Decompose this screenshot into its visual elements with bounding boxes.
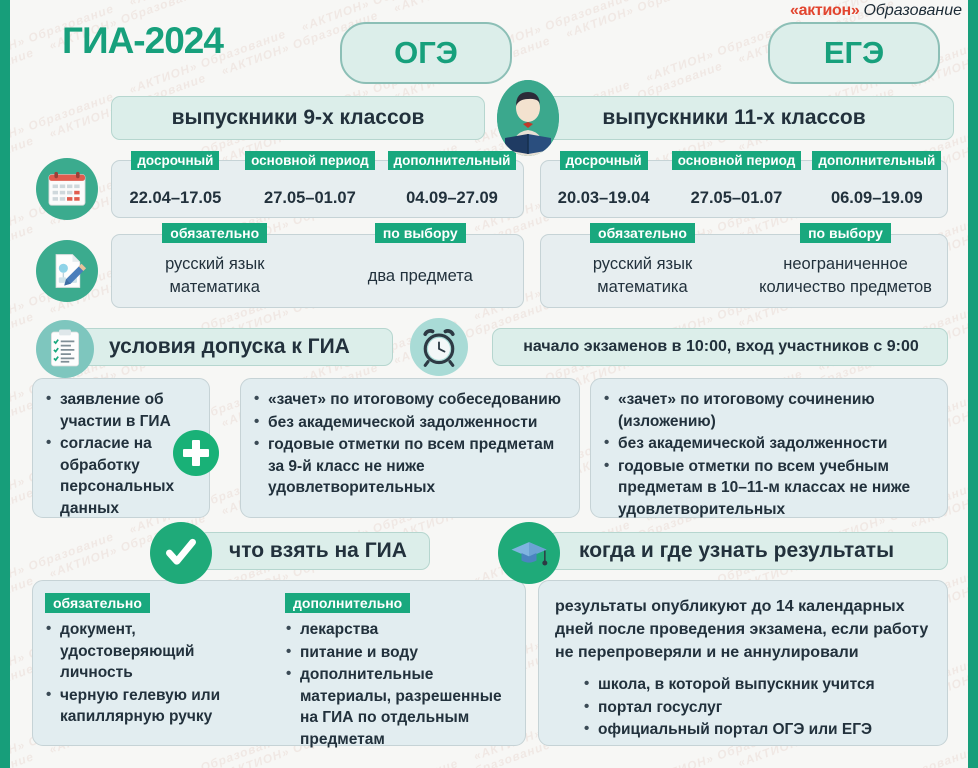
- take-heading-pill: что взять на ГИА: [198, 532, 430, 570]
- period-value: 06.09–19.09: [831, 189, 923, 208]
- period-tag: дополнительный: [388, 151, 517, 170]
- admission-header-row: условия допуска к ГИА начало экзаменов в…: [10, 320, 968, 374]
- list-item: черную гелевую или капиллярную ручку: [45, 685, 271, 728]
- take-card: обязательно документ, удостоверяющий лич…: [32, 580, 526, 746]
- subject-col: обязательно русский язык математика: [541, 235, 744, 307]
- list-item: «зачет» по итоговому собеседованию: [253, 389, 567, 411]
- graduates-banner-11: выпускники 11-х классов: [514, 96, 954, 140]
- plus-icon: [173, 430, 219, 476]
- page-title: ГИА-2024: [62, 20, 223, 62]
- period-value: 22.04–17.05: [130, 189, 222, 208]
- graduates-row: выпускники 9-х классов выпускники 11-х к…: [38, 96, 940, 144]
- admission-heading-pill: условия допуска к ГИА: [78, 328, 393, 366]
- subjects-row: обязательно русский язык математика по в…: [10, 228, 968, 316]
- period-value: 27.05–01.07: [691, 189, 783, 208]
- infographic-page: «АКТИОН» Образование «АКТИОН» Образовани…: [0, 0, 978, 768]
- admission-cards-row: заявление об участии в ГИА согласие на о…: [10, 374, 968, 524]
- take-heading: что взять на ГИА: [229, 539, 407, 563]
- date-col: дополнительный 04.09–27.09: [381, 161, 523, 217]
- admission-ege-list: «зачет» по итоговому сочинению (изложени…: [603, 389, 935, 520]
- period-tag: дополнительный: [812, 151, 941, 170]
- period-tag: основной период: [672, 151, 802, 170]
- take-results-cards-row: обязательно документ, удостоверяющий лич…: [10, 580, 968, 750]
- take-required-list: документ, удостоверяющий личность черную…: [45, 619, 271, 728]
- graduates-label-11: выпускники 11-х классов: [602, 106, 865, 130]
- exam-pill-ege-label: ЕГЭ: [824, 35, 884, 71]
- graduates-banner-9: выпускники 9-х классов: [111, 96, 485, 140]
- admission-heading: условия допуска к ГИА: [109, 335, 350, 359]
- period-value: 04.09–27.09: [406, 189, 498, 208]
- list-item: без академической задолженности: [253, 412, 567, 434]
- exam-pill-oge[interactable]: ОГЭ: [340, 22, 512, 84]
- dates-card-oge: досрочный 22.04–17.05 основной период 27…: [111, 160, 524, 218]
- subject-line: количество предметов: [759, 276, 932, 299]
- date-col: основной период 27.05–01.07: [239, 161, 381, 217]
- results-card: результаты опубликуют до 14 календарных …: [538, 580, 948, 746]
- exam-time-note: начало экзаменов в 10:00, вход участнико…: [523, 338, 919, 356]
- take-extra-tag: дополнительно: [285, 593, 410, 613]
- subject-tag: обязательно: [590, 223, 695, 243]
- list-item: лекарства: [285, 619, 513, 641]
- results-places-list: школа, в которой выпускник учится портал…: [555, 674, 931, 741]
- period-tag: досрочный: [560, 151, 648, 170]
- brand-logo: «актион» Образование: [790, 2, 962, 20]
- student-reading-icon: [497, 80, 559, 156]
- date-col: дополнительный 06.09–19.09: [807, 161, 947, 217]
- subject-tag: по выбору: [800, 223, 891, 243]
- subjects-card-oge: обязательно русский язык математика по в…: [111, 234, 524, 308]
- take-results-header-row: что взять на ГИА когда и где узнать резу…: [10, 524, 968, 580]
- subject-line: математика: [165, 276, 264, 299]
- take-extra-list: лекарства питание и воду дополнительные …: [285, 619, 513, 750]
- list-item: «зачет» по итоговому сочинению (изложени…: [603, 389, 935, 432]
- exam-pill-ege[interactable]: ЕГЭ: [768, 22, 940, 84]
- graduates-label-9: выпускники 9-х классов: [172, 106, 425, 130]
- period-tag: досрочный: [131, 151, 219, 170]
- subject-tag: обязательно: [162, 223, 267, 243]
- list-item: без академической задолженности: [603, 433, 935, 455]
- calendar-icon: [36, 158, 98, 220]
- subject-line: два предмета: [368, 265, 473, 288]
- date-col: досрочный 22.04–17.05: [112, 161, 239, 217]
- list-item: портал госуслуг: [583, 697, 931, 719]
- document-pencil-icon: [36, 240, 98, 302]
- subject-col: по выбору два предмета: [318, 235, 524, 307]
- subject-line: русский язык: [593, 253, 692, 276]
- take-required-tag: обязательно: [45, 593, 150, 613]
- brand-subtitle: Образование: [863, 2, 962, 20]
- list-item: документ, удостоверяющий личность: [45, 619, 271, 684]
- subjects-card-ege: обязательно русский язык математика по в…: [540, 234, 948, 308]
- take-required-col: обязательно документ, удостоверяющий лич…: [45, 593, 271, 733]
- list-item: официальный портал ОГЭ или ЕГЭ: [583, 719, 931, 741]
- exam-time-pill: начало экзаменов в 10:00, вход участнико…: [492, 328, 948, 366]
- checklist-icon: [36, 320, 94, 378]
- admission-oge-list: «зачет» по итоговому собеседованию без а…: [253, 389, 567, 499]
- admission-oge-card: «зачет» по итоговому собеседованию без а…: [240, 378, 580, 518]
- graduation-cap-icon: [498, 522, 560, 584]
- checkmark-icon: [150, 522, 212, 584]
- subject-col: по выбору неограниченное количество пред…: [744, 235, 947, 307]
- list-item: заявление об участии в ГИА: [45, 389, 197, 432]
- admission-ege-card: «зачет» по итоговому сочинению (изложени…: [590, 378, 948, 518]
- dates-card-ege: досрочный 20.03–19.04 основной период 27…: [540, 160, 948, 218]
- exam-dates-row: досрочный 22.04–17.05 основной период 27…: [10, 152, 968, 220]
- results-intro: результаты опубликуют до 14 календарных …: [555, 595, 931, 664]
- list-item: годовые отметки по всем предметам за 9-й…: [253, 434, 567, 499]
- subject-line: неограниченное: [759, 253, 932, 276]
- take-extra-col: дополнительно лекарства питание и воду д…: [285, 593, 513, 733]
- results-heading: когда и где узнать результаты: [579, 539, 894, 563]
- date-col: досрочный 20.03–19.04: [541, 161, 666, 217]
- list-item: школа, в которой выпускник учится: [583, 674, 931, 696]
- period-value: 20.03–19.04: [558, 189, 650, 208]
- period-tag: основной период: [245, 151, 375, 170]
- subject-line: математика: [593, 276, 692, 299]
- results-heading-pill: когда и где узнать результаты: [548, 532, 948, 570]
- list-item: годовые отметки по всем учебным предмета…: [603, 456, 935, 521]
- date-col: основной период 27.05–01.07: [666, 161, 806, 217]
- exam-pill-oge-label: ОГЭ: [394, 35, 458, 71]
- list-item: питание и воду: [285, 642, 513, 664]
- period-value: 27.05–01.07: [264, 189, 356, 208]
- subject-tag: по выбору: [375, 223, 466, 243]
- alarm-clock-icon: [410, 318, 468, 376]
- brand-name: «актион»: [790, 2, 859, 20]
- subject-line: русский язык: [165, 253, 264, 276]
- subject-col: обязательно русский язык математика: [112, 235, 318, 307]
- list-item: дополнительные материалы, разрешенные на…: [285, 664, 513, 750]
